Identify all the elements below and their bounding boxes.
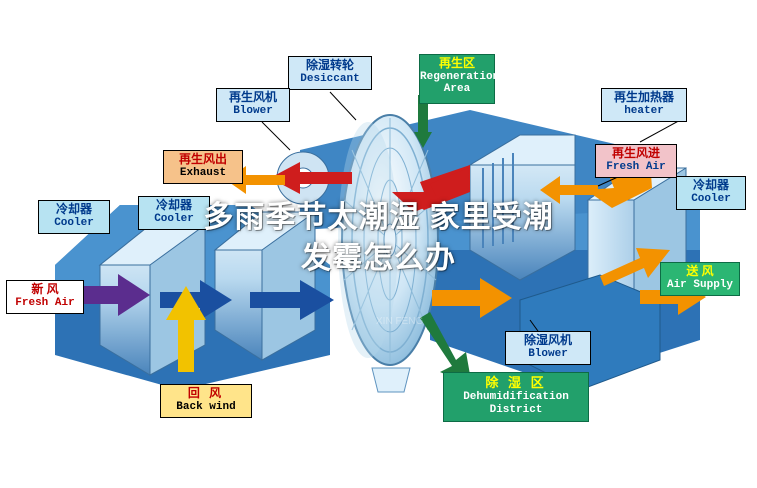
label-regeneration-area: 再生区 Regeneration Area (419, 54, 495, 104)
label-regen-fresh-in: 再生风进 Fresh Air (595, 144, 677, 178)
watermark: XIN FENG (376, 316, 423, 327)
label-regen-heater: 再生加热器 heater (601, 88, 687, 122)
label-desiccant: 除湿转轮 Desiccant (288, 56, 372, 90)
regen-heater-duct (470, 135, 575, 280)
label-regen-blower: 再生风机 Blower (216, 88, 290, 122)
dehumidifier-schematic (0, 0, 757, 488)
label-exhaust: 再生风出 Exhaust (163, 150, 243, 184)
label-cooler-right: 冷却器 Cooler (676, 176, 746, 210)
label-cooler-left: 冷却器 Cooler (38, 200, 110, 234)
diagram-canvas: 除湿转轮 Desiccant 再生区 Regeneration Area 再生风… (0, 0, 757, 488)
label-air-supply: 送 风 Air Supply (660, 262, 740, 296)
rotor-sump (372, 368, 410, 392)
label-back-wind: 回 风 Back wind (160, 384, 252, 418)
label-cooler-mid: 冷却器 Cooler (138, 196, 210, 230)
label-dehumidification-area: 除 湿 区 Dehumidification District (443, 372, 589, 422)
desiccant-rotor (338, 115, 438, 365)
label-process-blower: 除湿风机 Blower (505, 331, 591, 365)
label-fresh-air: 新 风 Fresh Air (6, 280, 84, 314)
